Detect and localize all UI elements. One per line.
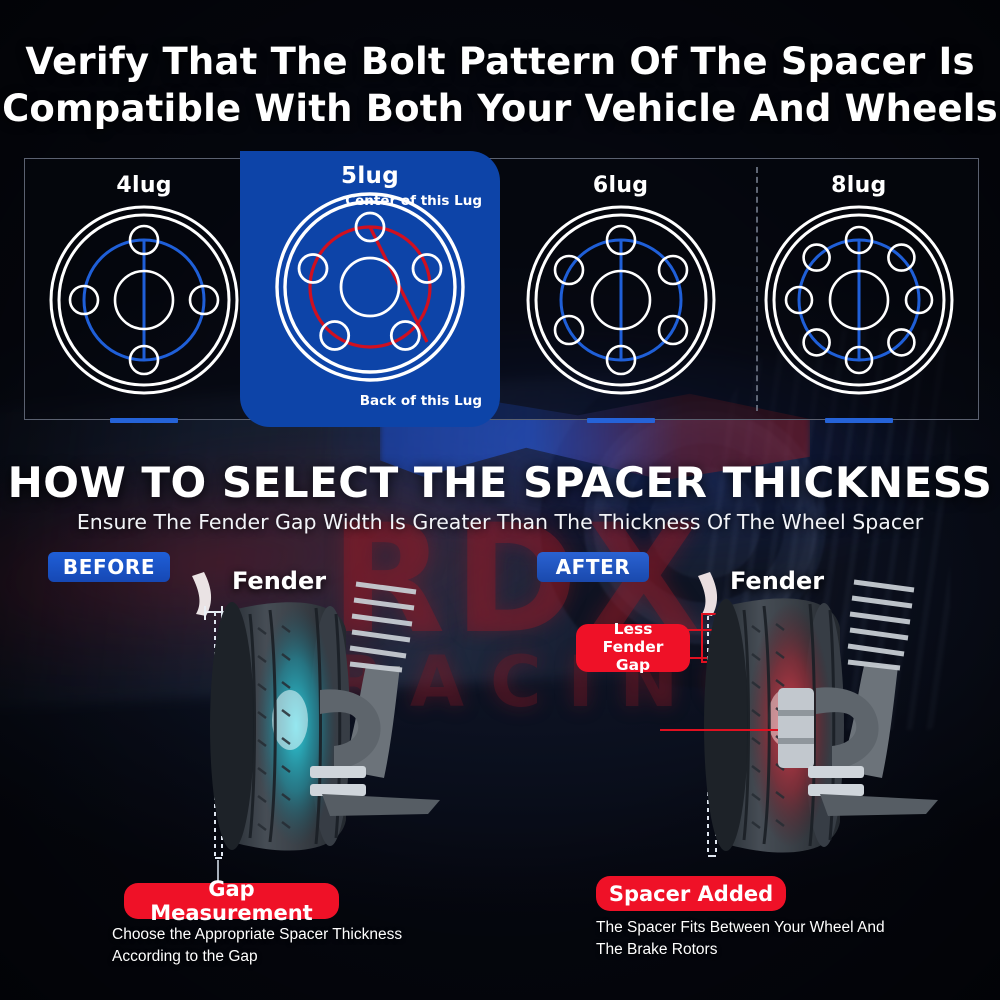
badge-after: AFTER (537, 552, 649, 582)
page-title: Verify That The Bolt Pattern Of The Spac… (0, 38, 1000, 133)
lug-underline-8lug (825, 418, 893, 423)
badge-gap-measurement: Gap Measurement (124, 883, 339, 919)
badge-less-fender-gap: Less Fender Gap (576, 624, 690, 672)
fender-label-before: Fender (232, 567, 326, 595)
fender-label-after: Fender (730, 567, 824, 595)
panel-divider (756, 167, 758, 411)
lug-note-center: Center of this Lug (345, 193, 482, 209)
lug-label-6lug: 6lug (593, 173, 648, 198)
caption-before-line2: According to the Gap (112, 946, 532, 968)
lug-panel-8lug[interactable]: 8lug (740, 159, 978, 419)
badge-spacer-added: Spacer Added (596, 876, 786, 911)
lug-panel-4lug[interactable]: 4lug (25, 159, 263, 419)
after-illustration (660, 570, 980, 890)
caption-after-line1: The Spacer Fits Between Your Wheel And (596, 917, 1000, 939)
lug-underline-6lug (587, 418, 655, 423)
caption-after: The Spacer Fits Between Your Wheel And T… (596, 917, 1000, 962)
page-title-line1: Verify That The Bolt Pattern Of The Spac… (25, 40, 974, 83)
lug-note-back: Back of this Lug (360, 393, 482, 409)
caption-after-line2: The Brake Rotors (596, 939, 1000, 961)
lug-panel-6lug[interactable]: 6lug (502, 159, 740, 419)
wheel-diagram-4lug (44, 200, 244, 400)
lug-panel-5lug[interactable]: 5lug Center of this Lug Back of this Lug (240, 151, 500, 427)
infographic-root: RDX RACING Verify That The Bolt Pattern … (0, 0, 1000, 1000)
bolt-pattern-frame: 4lug 6lug (24, 158, 979, 420)
lug-underline-4lug (110, 418, 178, 423)
before-illustration (170, 570, 480, 890)
caption-before: Choose the Appropriate Spacer Thickness … (112, 924, 532, 969)
wheel-diagram-8lug (759, 200, 959, 400)
less-gap-line1: Less Fender (603, 620, 664, 656)
lug-label-4lug: 4lug (116, 173, 171, 198)
bolt-pattern-row: 4lug 6lug (25, 159, 978, 419)
section-subtitle: Ensure The Fender Gap Width Is Greater T… (0, 510, 1000, 534)
section-title: HOW TO SELECT THE SPACER THICKNESS (0, 458, 1000, 507)
wheel-diagram-6lug (521, 200, 721, 400)
badge-before: BEFORE (48, 552, 170, 582)
less-gap-line2: Gap (584, 657, 682, 675)
lug-label-8lug: 8lug (831, 173, 886, 198)
lug-label-5lug: 5lug (341, 163, 399, 189)
caption-before-line1: Choose the Appropriate Spacer Thickness (112, 924, 532, 946)
page-title-line2: Compatible With Both Your Vehicle And Wh… (0, 85, 1000, 132)
wheel-diagram-5lug (270, 187, 470, 387)
